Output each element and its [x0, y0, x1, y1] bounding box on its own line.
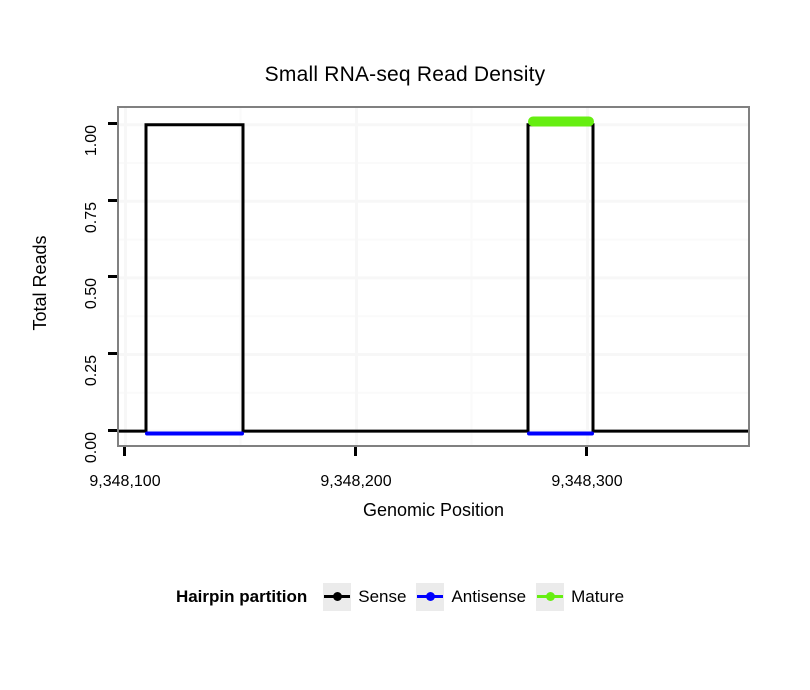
- y-tick-mark-1: [108, 352, 117, 355]
- plot-svg: [119, 108, 748, 445]
- legend-label-sense: Sense: [358, 587, 406, 607]
- y-tick-label-4: 1.00: [83, 125, 101, 185]
- y-axis-title: Total Reads: [30, 193, 54, 373]
- y-tick-label-3: 0.75: [83, 202, 101, 262]
- legend-entry-sense[interactable]: Sense: [323, 583, 406, 611]
- plot-area: [119, 108, 748, 445]
- y-tick-mark-4: [108, 122, 117, 125]
- x-tick-label-0: 9,348,100: [45, 473, 205, 491]
- y-tick-mark-3: [108, 199, 117, 202]
- x-axis-title: Genomic Position: [117, 500, 750, 521]
- legend-entry-mature[interactable]: Mature: [536, 583, 624, 611]
- legend-title: Hairpin partition: [176, 587, 307, 607]
- grid-major: [119, 108, 748, 445]
- y-tick-label-2: 0.50: [83, 278, 101, 338]
- legend-key-mature-icon: [536, 583, 564, 611]
- legend-label-antisense: Antisense: [451, 587, 526, 607]
- legend-key-sense-icon: [323, 583, 351, 611]
- plot-panel: [117, 106, 750, 447]
- y-tick-mark-2: [108, 275, 117, 278]
- page-title: Small RNA-seq Read Density: [0, 63, 810, 87]
- y-tick-mark-0: [108, 429, 117, 432]
- chart-figure: Small RNA-seq Read Density Total Reads G…: [0, 0, 810, 690]
- x-tick-label-1: 9,348,200: [276, 473, 436, 491]
- x-tick-mark-1: [354, 447, 357, 456]
- x-tick-label-2: 9,348,300: [507, 473, 667, 491]
- legend: Hairpin partition Sense Antisense Mature: [0, 583, 810, 611]
- x-tick-mark-2: [585, 447, 588, 456]
- y-tick-label-1: 0.25: [83, 355, 101, 415]
- legend-label-mature: Mature: [571, 587, 624, 607]
- x-tick-mark-0: [123, 447, 126, 456]
- legend-entry-antisense[interactable]: Antisense: [416, 583, 526, 611]
- legend-key-antisense-icon: [416, 583, 444, 611]
